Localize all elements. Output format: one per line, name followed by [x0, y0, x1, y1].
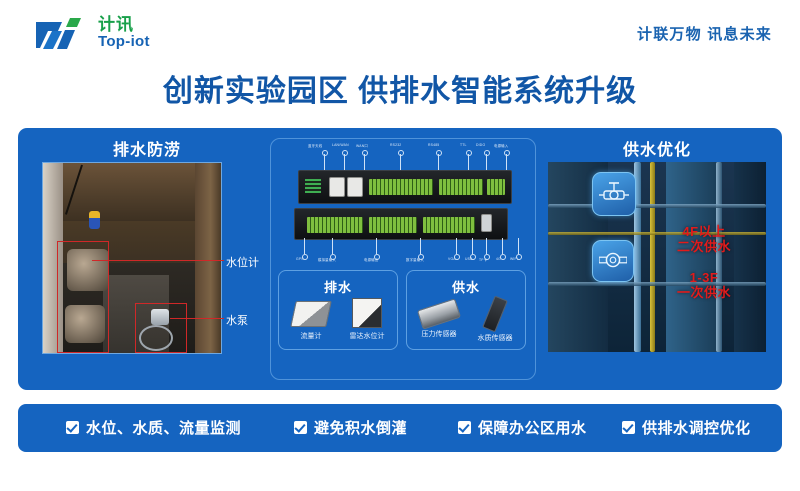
sensor-label: 压力传感器 [411, 329, 467, 339]
sensor-item-water-quality: 水质传感器 [467, 297, 523, 343]
overlay-line-1: 4F以上 [654, 224, 754, 239]
benefit-item-4[interactable]: 供排水调控优化 [622, 417, 751, 438]
annotation-level-meter: 水位计 [226, 254, 259, 270]
overlay-line-2: 一次供水 [654, 285, 754, 300]
column-gateway: 蓝牙天线 LAN/WAN WAN口 RS232 RS485 TTL DIDO 电… [270, 128, 538, 390]
slide-root: 计讯 Top-iot 计联万物 讯息未来 创新实验园区 供排水智能系统升级 排水… [0, 0, 800, 491]
pressure-sensor-icon [417, 298, 461, 329]
highlight-box-pumps [57, 241, 109, 353]
card-drainage: 排水 流量计 雷达水位计 [278, 270, 398, 350]
benefit-label: 避免积水倒灌 [314, 417, 407, 438]
callout-label-ai: 模拟量输入 [318, 257, 336, 262]
benefit-item-2[interactable]: 避免积水倒灌 [294, 417, 407, 438]
page-title: 创新实验园区 供排水智能系统升级 [0, 66, 800, 110]
callout-label-wan: WAN口 [356, 143, 368, 148]
callout-label-power-in: 电源输入 [494, 143, 508, 148]
column-drainage-title: 排水防涝 [28, 136, 266, 160]
pipe-riser-photo [548, 162, 766, 352]
callout-label-rs232: RS232 [390, 143, 401, 147]
drainage-pit-photo [42, 162, 222, 354]
callout-label-usb: USB [465, 257, 473, 261]
callout-label-power-out: 电源输出 [364, 257, 378, 262]
overlay-line-1: 1-3F [654, 270, 754, 285]
overlay-secondary-supply: 4F以上 二次供水 [654, 224, 754, 254]
callout-label-tf: TF卡 [479, 257, 487, 262]
callout-label-ttl: TTL [460, 143, 467, 147]
benefit-label: 保障办公区用水 [478, 417, 587, 438]
overlay-line-2: 二次供水 [654, 239, 754, 254]
highlight-box-sensor [135, 303, 187, 353]
logo-english-text: Top-iot [98, 34, 150, 50]
callout-label-rs485: RS485 [428, 143, 439, 147]
valve-control-icon[interactable] [592, 172, 636, 216]
brand-logo: 计讯 Top-iot [36, 14, 186, 58]
check-icon [294, 421, 307, 434]
benefit-item-3[interactable]: 保障办公区用水 [458, 417, 587, 438]
header-tagline: 计联万物 讯息未来 [637, 23, 772, 44]
leader-line-pump [170, 318, 224, 319]
check-icon [66, 421, 79, 434]
leader-line-level-meter [92, 260, 224, 261]
check-icon [622, 421, 635, 434]
callout-label-wifi: WIFI [510, 257, 518, 261]
column-supply-title: 供水优化 [542, 136, 772, 160]
flow-meter-icon [290, 301, 332, 327]
water-quality-sensor-icon [482, 296, 508, 333]
callout-label-gps: GPS [296, 257, 304, 261]
callout-label-vga: VGA [448, 257, 456, 261]
main-panel: 排水防涝 水位计 水泵 [18, 128, 782, 390]
gateway-front-view [298, 170, 512, 204]
column-supply: 供水优化 [542, 128, 772, 390]
card-supply-title: 供水 [407, 277, 525, 296]
callout-label-di: 数字量输入 [406, 257, 424, 262]
sensor-card-group: 排水 流量计 雷达水位计 供水 压力传感器 [278, 270, 528, 356]
logo-chinese-text: 计讯 [98, 16, 134, 33]
page-header: 计讯 Top-iot 计联万物 讯息未来 [0, 0, 800, 60]
top-iot-logo-mark [36, 18, 98, 52]
worker-figure [89, 211, 100, 229]
callout-label-bt: 蓝牙天线 [308, 143, 322, 148]
callout-label-lanwan: LAN/WAN [332, 143, 349, 147]
column-drainage: 排水防涝 水位计 水泵 [28, 128, 266, 390]
sensor-label: 雷达水位计 [339, 331, 395, 341]
industrial-gateway-device: 蓝牙天线 LAN/WAN WAN口 RS232 RS485 TTL DIDO 电… [280, 136, 526, 264]
benefit-item-1[interactable]: 水位、水质、流量监测 [66, 417, 241, 438]
sensor-item-radar-level: 雷达水位计 [339, 297, 395, 341]
benefit-label: 水位、水质、流量监测 [86, 417, 241, 438]
sensor-label: 流量计 [283, 331, 339, 341]
overlay-primary-supply: 1-3F 一次供水 [654, 270, 754, 300]
callout-label-4g: 4G [496, 257, 501, 261]
sensor-label: 水质传感器 [467, 333, 523, 343]
sensor-item-pressure: 压力传感器 [411, 297, 467, 339]
water-meter-icon[interactable] [592, 240, 634, 282]
benefit-label: 供排水调控优化 [642, 417, 751, 438]
gateway-rear-view [294, 208, 508, 240]
card-supply: 供水 压力传感器 水质传感器 [406, 270, 526, 350]
radar-level-meter-icon [352, 298, 382, 328]
card-drainage-title: 排水 [279, 277, 397, 296]
annotation-pump: 水泵 [226, 312, 248, 328]
benefits-bar: 水位、水质、流量监测 避免积水倒灌 保障办公区用水 供排水调控优化 [18, 404, 782, 452]
callout-label-dido: DIDO [476, 143, 485, 147]
sensor-item-flow-meter: 流量计 [283, 297, 339, 341]
check-icon [458, 421, 471, 434]
